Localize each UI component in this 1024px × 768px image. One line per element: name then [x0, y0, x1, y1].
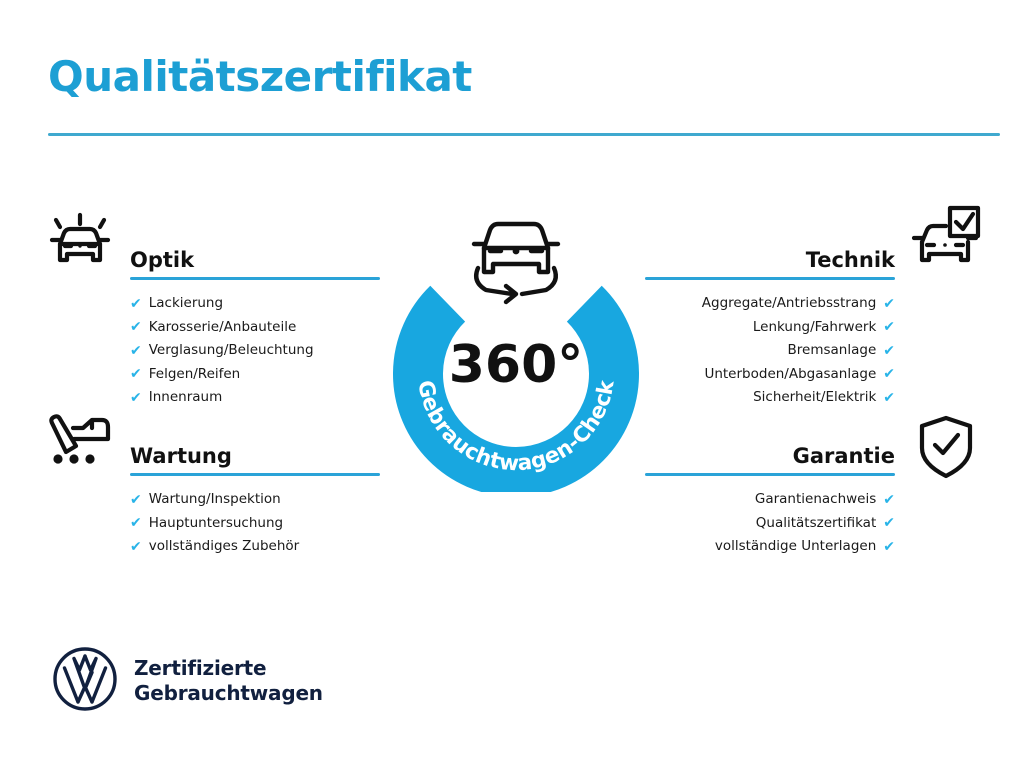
section-technik: Technik Aggregate/Antriebsstrang✔ Lenkun… — [645, 238, 895, 410]
check-icon: ✔ — [883, 391, 895, 405]
list-item-label: Felgen/Reifen — [149, 363, 241, 387]
section-divider — [645, 277, 895, 280]
certificate-page: Qualitätszertifikat — [0, 0, 1024, 768]
section-garantie: Garantie Garantienachweis✔ Qualitätszert… — [645, 434, 895, 559]
list-item: ✔Karosserie/Anbauteile — [130, 316, 380, 340]
page-title: Qualitätszertifikat — [48, 52, 472, 101]
section-header: Optik — [130, 238, 380, 280]
list-item: Qualitätszertifikat✔ — [645, 512, 895, 536]
list-item: ✔Lackierung — [130, 292, 380, 316]
car-rotation-icon — [474, 224, 558, 302]
section-divider — [130, 277, 380, 280]
checklist-optik: ✔Lackierung ✔Karosserie/Anbauteile ✔Verg… — [130, 292, 380, 410]
check-icon: ✔ — [130, 540, 142, 554]
badge-value: 360° — [449, 335, 584, 395]
list-item: ✔Felgen/Reifen — [130, 363, 380, 387]
checklist-wartung: ✔Wartung/Inspektion ✔Hauptuntersuchung ✔… — [130, 488, 380, 559]
section-header: Technik — [645, 238, 895, 280]
check-icon: ✔ — [883, 344, 895, 358]
check-icon: ✔ — [130, 493, 142, 507]
list-item-label: Hauptuntersuchung — [149, 512, 283, 536]
list-item: ✔Verglasung/Beleuchtung — [130, 339, 380, 363]
list-item-label: Karosserie/Anbauteile — [149, 316, 297, 340]
list-item: vollständige Unterlagen✔ — [645, 535, 895, 559]
check-icon: ✔ — [130, 391, 142, 405]
list-item-label: Unterboden/Abgasanlage — [704, 363, 876, 387]
section-header: Wartung — [130, 434, 380, 476]
list-item-label: Lackierung — [149, 292, 223, 316]
car-checkbox-icon — [908, 202, 982, 278]
section-divider — [130, 473, 380, 476]
section-title: Optik — [130, 248, 194, 272]
section-title: Wartung — [130, 444, 232, 468]
section-header: Garantie — [645, 434, 895, 476]
list-item: ✔Hauptuntersuchung — [130, 512, 380, 536]
section-optik: Optik ✔Lackierung ✔Karosserie/Anbauteile… — [130, 238, 380, 410]
list-item-label: vollständiges Zubehör — [149, 535, 299, 559]
list-item-label: Wartung/Inspektion — [149, 488, 281, 512]
list-item-label: Garantienachweis — [755, 488, 876, 512]
check-icon: ✔ — [130, 297, 142, 311]
check-icon: ✔ — [883, 367, 895, 381]
check-icon: ✔ — [883, 540, 895, 554]
list-item: Garantienachweis✔ — [645, 488, 895, 512]
list-item-label: Verglasung/Beleuchtung — [149, 339, 314, 363]
section-title: Garantie — [793, 444, 895, 468]
check-icon: ✔ — [883, 297, 895, 311]
service-pencil-car-icon — [44, 414, 116, 480]
check-icon: ✔ — [130, 320, 142, 334]
checklist-technik: Aggregate/Antriebsstrang✔ Lenkung/Fahrwe… — [645, 292, 895, 410]
check-icon: ✔ — [130, 516, 142, 530]
section-divider — [645, 473, 895, 476]
section-title: Technik — [806, 248, 895, 272]
check-icon: ✔ — [883, 516, 895, 530]
badge-360-check: 360° Gebrauchtwagen-Check — [372, 196, 660, 492]
shield-check-icon — [916, 414, 976, 484]
list-item-label: Bremsanlage — [788, 339, 877, 363]
brand-text: Zertifizierte Gebrauchtwagen — [134, 656, 323, 706]
list-item: ✔Innenraum — [130, 386, 380, 410]
footer-brand: Zertifizierte Gebrauchtwagen — [52, 646, 323, 716]
list-item: Unterboden/Abgasanlage✔ — [645, 363, 895, 387]
title-divider — [48, 133, 1000, 136]
checklist-garantie: Garantienachweis✔ Qualitätszertifikat✔ v… — [645, 488, 895, 559]
list-item-label: Sicherheit/Elektrik — [753, 386, 876, 410]
list-item-label: vollständige Unterlagen — [715, 535, 876, 559]
list-item: Sicherheit/Elektrik✔ — [645, 386, 895, 410]
section-wartung: Wartung ✔Wartung/Inspektion ✔Hauptunters… — [130, 434, 380, 559]
check-icon: ✔ — [883, 493, 895, 507]
car-shine-icon — [44, 202, 116, 278]
list-item: Lenkung/Fahrwerk✔ — [645, 316, 895, 340]
check-icon: ✔ — [130, 344, 142, 358]
list-item-label: Aggregate/Antriebsstrang — [702, 292, 877, 316]
brand-line-2: Gebrauchtwagen — [134, 681, 323, 706]
list-item-label: Lenkung/Fahrwerk — [753, 316, 876, 340]
vw-logo-icon — [52, 646, 118, 716]
list-item: Aggregate/Antriebsstrang✔ — [645, 292, 895, 316]
list-item-label: Innenraum — [149, 386, 223, 410]
brand-line-1: Zertifizierte — [134, 656, 323, 681]
check-icon: ✔ — [883, 320, 895, 334]
check-icon: ✔ — [130, 367, 142, 381]
list-item-label: Qualitätszertifikat — [756, 512, 877, 536]
list-item: ✔Wartung/Inspektion — [130, 488, 380, 512]
list-item: ✔vollständiges Zubehör — [130, 535, 380, 559]
list-item: Bremsanlage✔ — [645, 339, 895, 363]
